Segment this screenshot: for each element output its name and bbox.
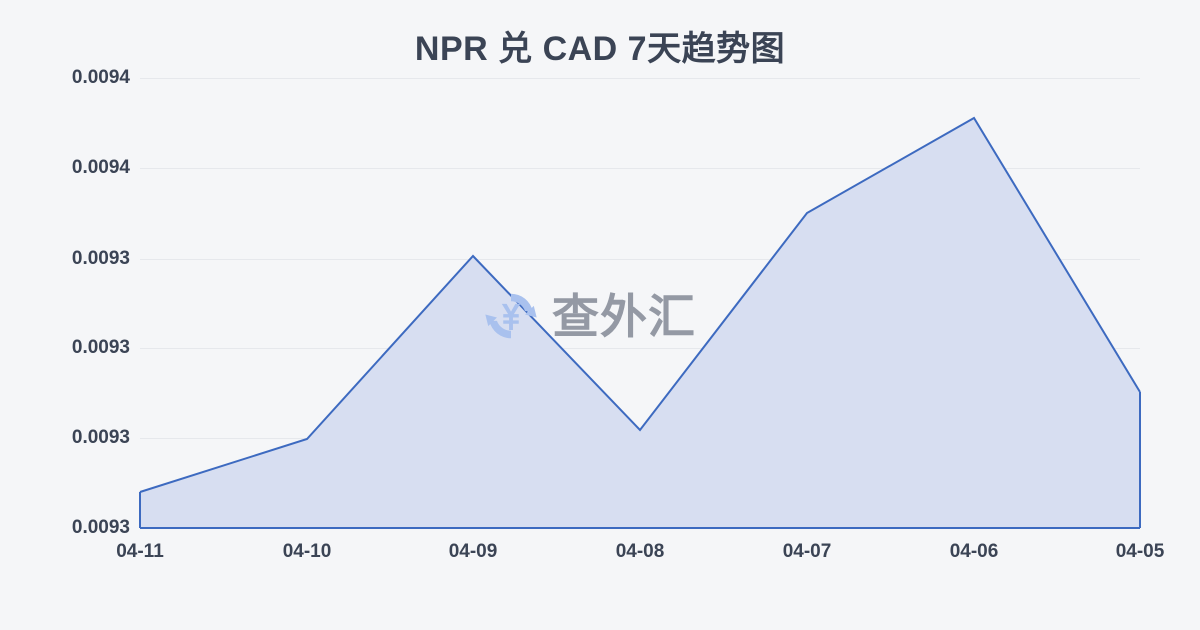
plot-area [0,0,1200,630]
area-fill [140,118,1140,528]
forex-trend-chart: NPR 兑 CAD 7天趋势图 0.0094 0.0094 0.0093 0.0… [0,0,1200,630]
